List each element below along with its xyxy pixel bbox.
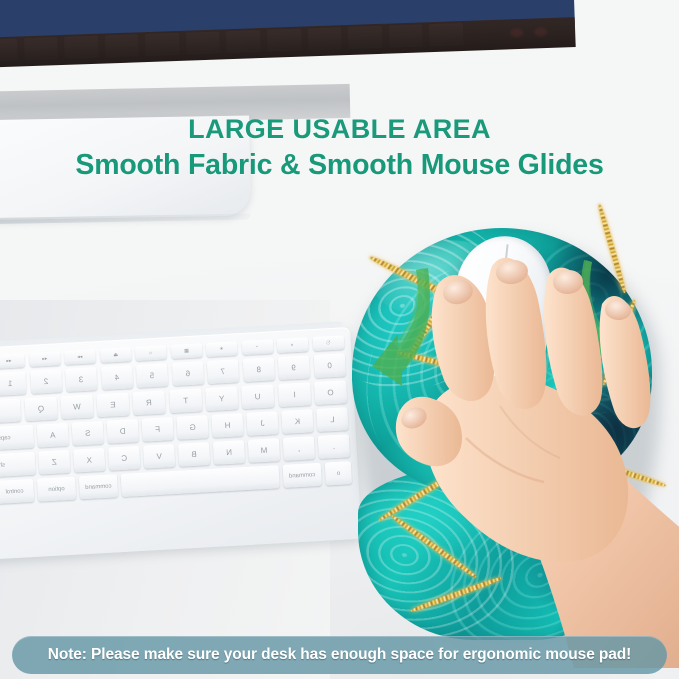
vent-segment (348, 26, 382, 49)
vent-segment (0, 39, 17, 62)
key-f[interactable]: ⎋ (312, 335, 344, 351)
key-j[interactable]: J (246, 411, 278, 436)
key-8[interactable]: 8 (242, 357, 275, 382)
key-l[interactable]: L (316, 407, 348, 432)
key-y[interactable]: Y (205, 386, 238, 411)
headline-secondary: Smooth Fabric & Smooth Mouse Glides (0, 146, 679, 184)
key-m[interactable]: M (248, 438, 280, 463)
key-v[interactable]: V (143, 444, 175, 469)
key-f[interactable]: ☼ (135, 345, 167, 361)
key-3[interactable]: 3 (65, 367, 98, 392)
key-shift[interactable]: shift (0, 452, 36, 479)
key-tab[interactable]: tab (0, 399, 21, 425)
key-0[interactable]: 0 (313, 353, 346, 378)
key-f[interactable]: F (142, 417, 174, 442)
vent-segment (186, 31, 220, 54)
product-marketing-image: $72,940,275 Other Products $18,979,070 A… (0, 0, 679, 679)
key-7[interactable]: 7 (207, 359, 240, 384)
key-comma[interactable]: , (283, 436, 315, 461)
key-w[interactable]: W (60, 394, 93, 419)
key-9[interactable]: 9 (277, 355, 310, 380)
vent-segment (64, 36, 98, 59)
bezel-reflection-dot (534, 27, 547, 36)
vent-segment (267, 29, 301, 52)
key-command-right[interactable]: command (283, 463, 322, 488)
key-g[interactable]: G (177, 415, 209, 440)
hand-on-mouse (392, 238, 679, 668)
key-f[interactable]: ▸▸ (64, 349, 96, 365)
vent-segment (105, 34, 139, 57)
key-d[interactable]: D (107, 419, 139, 444)
key-2[interactable]: 2 (30, 369, 63, 394)
key-c[interactable]: C (108, 446, 140, 471)
key-s[interactable]: S (72, 421, 104, 446)
key-k[interactable]: K (281, 409, 313, 434)
key-f[interactable]: ⏏ (99, 347, 131, 363)
key-z[interactable]: Z (38, 450, 70, 475)
key-i[interactable]: I (277, 382, 310, 407)
keyboard[interactable]: ▸ ◂◂ ◂◂ ▸▸ ⏏ ☼ ▦ ☀ ◔ ◑ ⎋ - 1 2 3 4 5 6 7 (0, 327, 362, 561)
key-h[interactable]: H (212, 413, 244, 438)
headline-primary: LARGE USABLE AREA (0, 112, 679, 146)
key-f[interactable]: ☀ (206, 341, 238, 357)
key-r[interactable]: R (133, 390, 166, 415)
vent-segment (308, 27, 342, 50)
key-t[interactable]: T (169, 388, 202, 413)
key-6[interactable]: 6 (171, 361, 204, 386)
key-o[interactable]: O (314, 380, 347, 405)
key-u[interactable]: U (241, 384, 274, 409)
key-period[interactable]: . (318, 434, 350, 459)
key-x[interactable]: X (73, 448, 105, 473)
bezel-reflection-dot (510, 28, 523, 37)
note-banner-text: Note: Please make sure your desk has eno… (48, 646, 632, 664)
key-5[interactable]: 5 (136, 363, 169, 388)
key-4[interactable]: 4 (100, 365, 133, 390)
key-f[interactable]: ◔ (241, 339, 273, 355)
key-option[interactable]: option (36, 477, 75, 502)
key-f[interactable]: ◑ (276, 337, 308, 353)
key-control[interactable]: control (0, 479, 34, 504)
vent-segment (145, 33, 179, 56)
vent-segment (24, 37, 58, 60)
vent-segment (226, 30, 260, 53)
key-f[interactable]: ◂◂ (29, 351, 61, 367)
key-n[interactable]: N (213, 440, 245, 465)
vent-segment (429, 23, 463, 46)
key-q[interactable]: Q (24, 397, 57, 422)
headline-block: LARGE USABLE AREA Smooth Fabric & Smooth… (0, 112, 679, 184)
keyboard-rows: ▸ ◂◂ ◂◂ ▸▸ ⏏ ☼ ▦ ☀ ◔ ◑ ⎋ - 1 2 3 4 5 6 7 (0, 335, 352, 505)
key-caps-lock[interactable]: caps lock (0, 425, 34, 452)
key-f[interactable]: ◂◂ (0, 353, 25, 369)
key-right-modifier[interactable]: o (325, 461, 352, 485)
key-f[interactable]: ▦ (170, 343, 202, 359)
note-banner: Note: Please make sure your desk has eno… (12, 636, 667, 674)
key-a[interactable]: A (37, 423, 69, 448)
vent-segment (389, 24, 423, 47)
key-b[interactable]: B (178, 442, 210, 467)
key-1[interactable]: 1 (0, 371, 27, 396)
key-command[interactable]: command (79, 474, 118, 499)
key-e[interactable]: E (96, 392, 129, 417)
